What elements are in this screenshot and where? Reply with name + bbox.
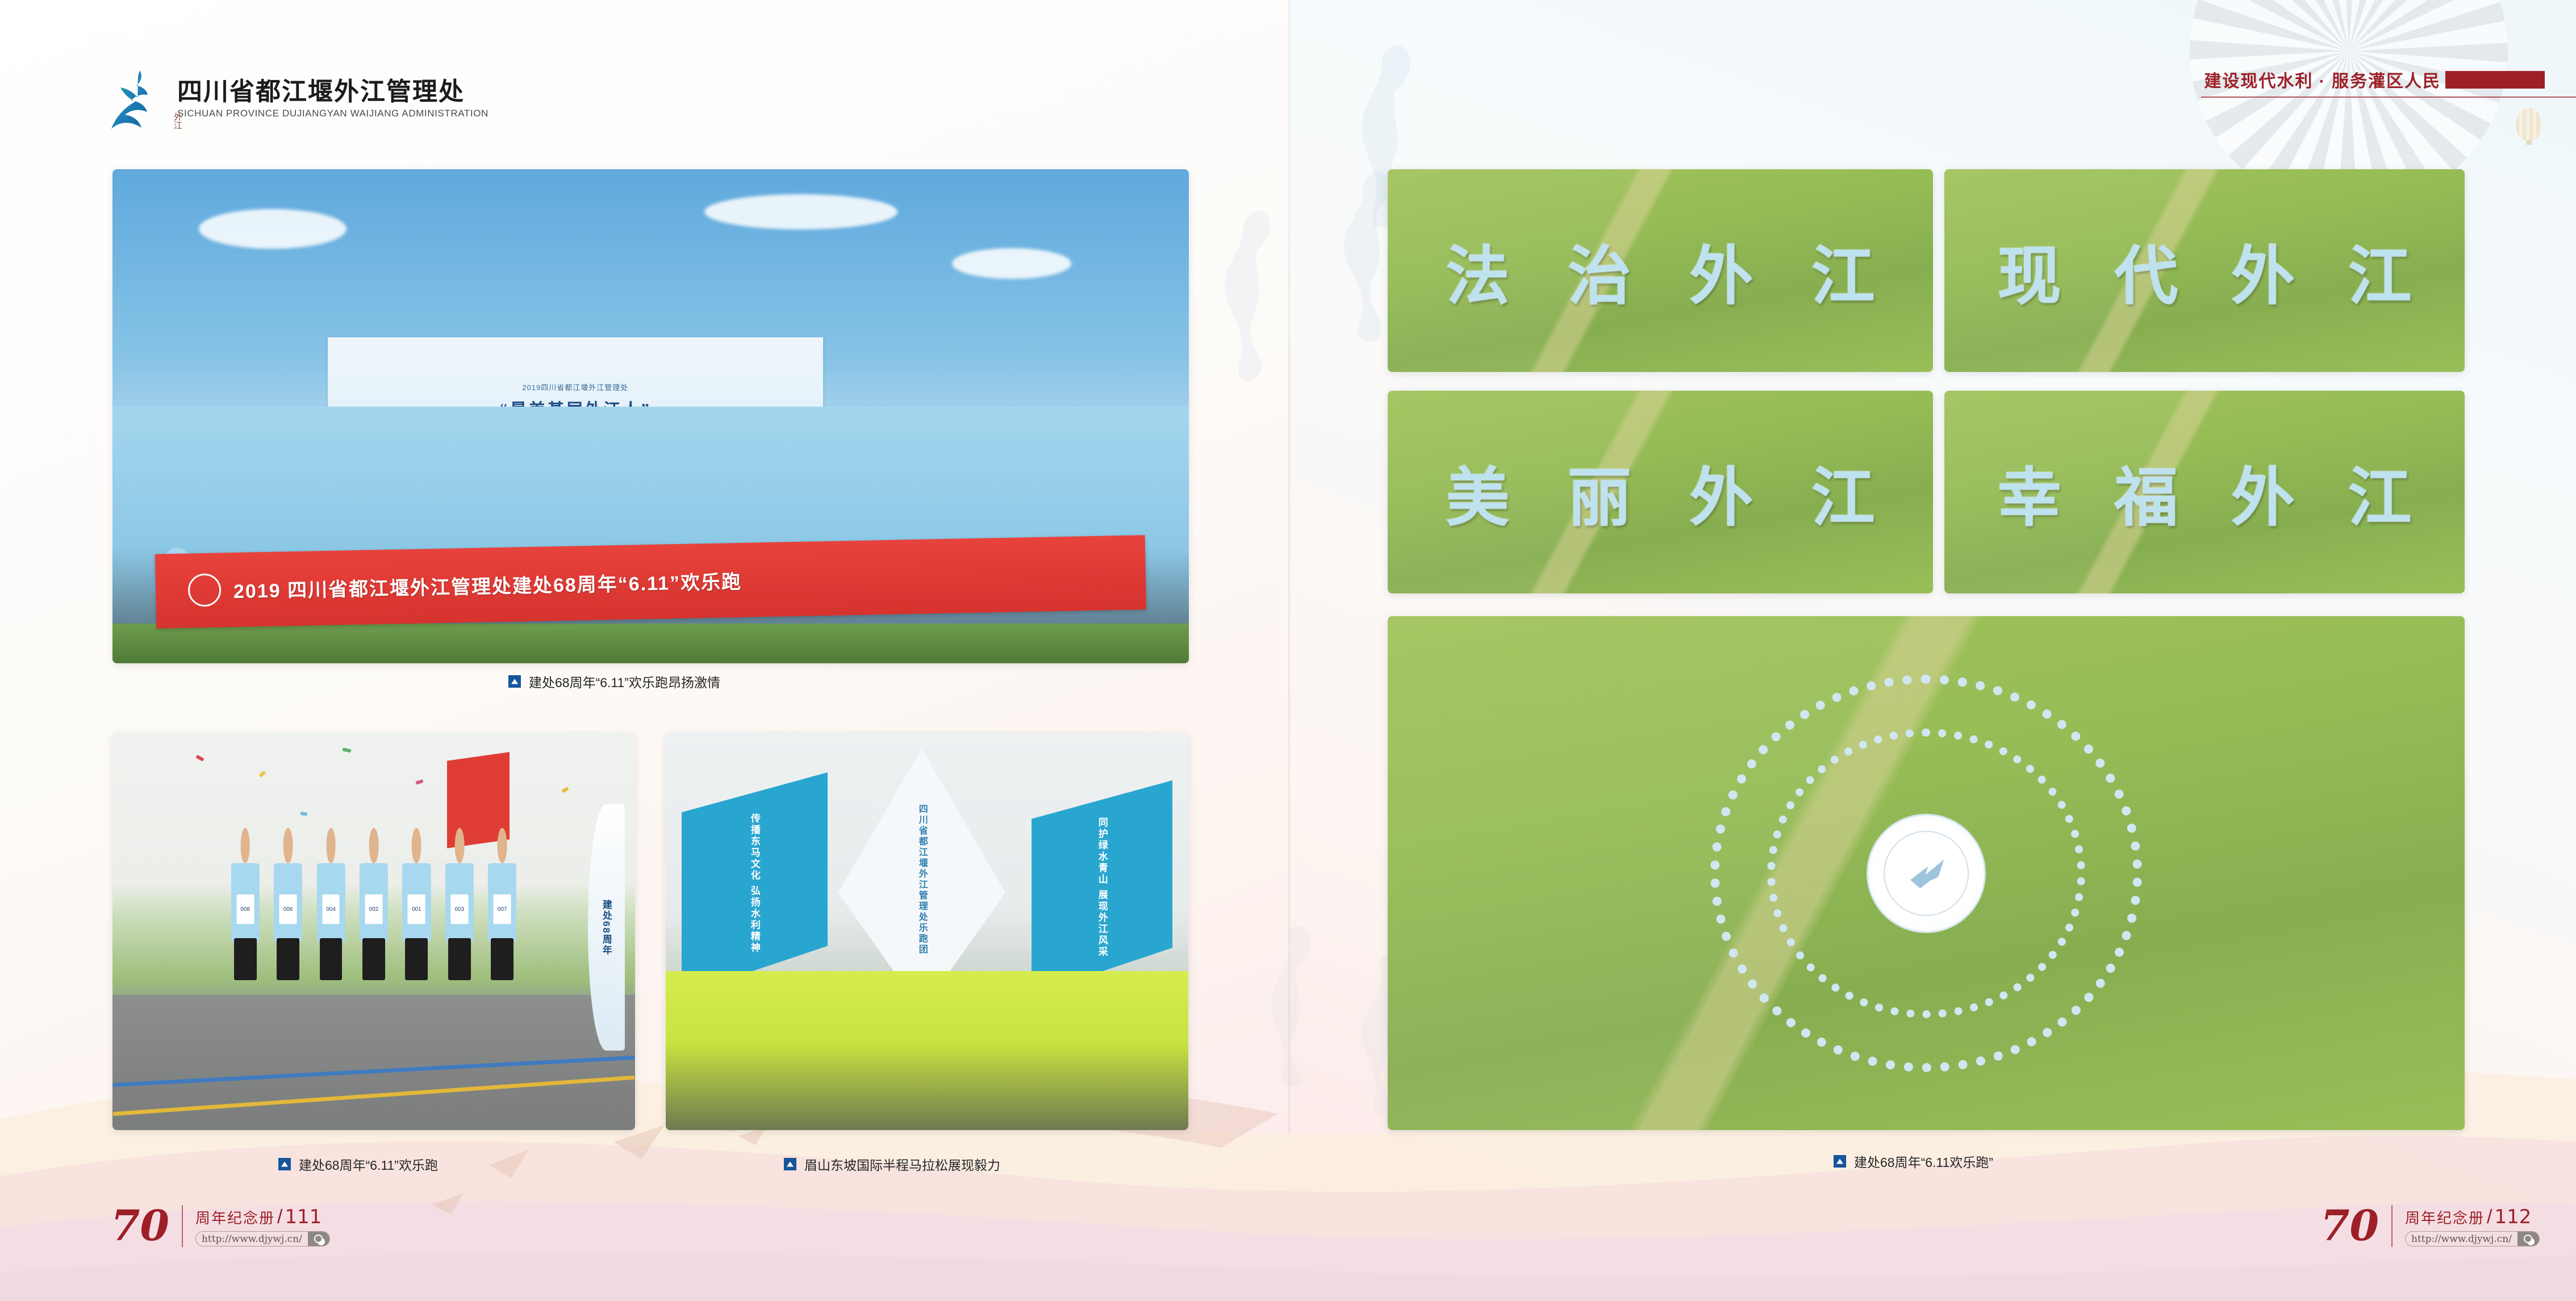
footer-url-bar[interactable]: http://www.djywj.cn/: [2405, 1231, 2540, 1246]
photo-circle-formation[interactable]: [1388, 616, 2465, 1130]
formation-char: 福: [2114, 446, 2178, 538]
caption-text: 建处68周年“6.11”欢乐跑昂扬激情: [529, 672, 720, 691]
triangle-marker-icon: [508, 675, 521, 688]
caption-happy-run: 建处68周年“6.11”欢乐跑: [278, 1154, 438, 1174]
runner-head: [369, 828, 379, 863]
formation-char: 外: [2231, 225, 2295, 317]
runner-figure: 008: [227, 828, 264, 1003]
slogan-text: 建设现代水利 · 服务灌区人民: [2204, 67, 2441, 92]
banner-text: 2019 四川省都江堰外江管理处建处68周年“6.11”欢乐跑: [233, 566, 742, 604]
runner-figure: 006: [270, 828, 306, 1003]
slogan-red-bar: [2445, 71, 2545, 89]
cloud-shape: [199, 209, 346, 249]
anniversary-70-logo: 70: [2320, 1207, 2379, 1245]
formation-char: 外: [1689, 225, 1753, 317]
triangle-marker-icon: [1834, 1155, 1846, 1168]
runner-shorts: [320, 938, 343, 980]
photo-formation-xingfu-waijiang[interactable]: 幸 福 外 江: [1944, 391, 2465, 593]
runner-head: [283, 828, 293, 863]
human-formation: 法 治 外 江: [1388, 169, 1933, 372]
slogan-banner: 建设现代水利 · 服务灌区人民: [2204, 67, 2545, 92]
footer-slash: /: [2487, 1206, 2492, 1228]
runner-bib: 006: [279, 894, 297, 924]
runner-shorts: [405, 938, 428, 980]
administration-emblem: [1867, 814, 1986, 933]
runner-head: [326, 828, 336, 863]
triangle-marker-icon: [278, 1158, 291, 1170]
anniversary-70-logo: 70: [111, 1207, 169, 1245]
formation-char: 治: [1568, 225, 1631, 317]
runner-bib: 004: [322, 894, 340, 924]
footer-page-number: 112: [2494, 1206, 2531, 1228]
slogan-underline: [2201, 97, 2576, 98]
runner-figure: 004: [312, 828, 349, 1003]
runner-figure: 001: [398, 828, 435, 1003]
site-header: 外江 四川省都江堰外江管理处 SICHUAN PROVINCE DUJIANGY…: [108, 68, 489, 131]
formation-char: 江: [1811, 225, 1875, 317]
grass-strip: [112, 624, 1189, 663]
footer-info-block: 周年纪念册 / 112 http://www.djywj.cn/: [2405, 1206, 2540, 1246]
flag-left-text: 传播东马文化 弘扬水利精神: [748, 813, 762, 954]
formation-char: 幸: [1998, 446, 2061, 538]
caption-circle-formation: 建处68周年“6.11欢乐跑”: [1834, 1152, 1993, 1171]
flag-right-text: 同护绿水青山 展现外江风采: [1095, 817, 1109, 958]
cloud-shape: [704, 194, 897, 229]
runner-bib: 001: [408, 894, 425, 924]
footer-divider: [182, 1205, 183, 1247]
formation-char: 美: [1446, 446, 1509, 538]
formation-char: 代: [2114, 225, 2178, 317]
photo-formation-fazhi-waijiang[interactable]: 法 治 外 江: [1388, 169, 1933, 372]
logo-side-text: 外江: [173, 112, 182, 129]
runner-shorts: [277, 938, 299, 980]
runner-bib: 002: [365, 894, 383, 924]
formation-char: 外: [1689, 446, 1753, 538]
runner-figure: 002: [356, 828, 392, 1003]
caption-group-celebration: 建处68周年“6.11”欢乐跑昂扬激情: [508, 672, 720, 691]
footer-title-row: 周年纪念册 / 111: [195, 1206, 330, 1228]
backdrop-line-1: 2019四川省都江堰外江管理处: [522, 382, 628, 392]
runner-head: [454, 828, 464, 863]
human-formation: 现 代 外 江: [1944, 169, 2465, 372]
runner-shorts: [362, 938, 385, 980]
footer-title-cn: 周年纪念册: [2405, 1207, 2485, 1228]
flag-center-text: 四川省都江堰外江管理处乐跑团: [915, 804, 929, 955]
search-icon[interactable]: [2517, 1232, 2539, 1246]
footer-title-row: 周年纪念册 / 112: [2405, 1206, 2540, 1228]
triangle-marker-icon: [784, 1158, 796, 1170]
footer-right-page: 70 周年纪念册 / 112 http://www.djywj.cn/: [2320, 1205, 2540, 1247]
organization-name-en: SICHUAN PROVINCE DUJIANGYAN WAIJIANG ADM…: [177, 108, 489, 119]
organization-logo-icon: 外江: [108, 68, 162, 131]
runner-shorts: [491, 938, 513, 980]
hot-air-balloon-icon: [2516, 108, 2542, 141]
runners-group: 008 006 004 002 001: [112, 828, 635, 1003]
footer-title-cn: 周年纪念册: [195, 1207, 275, 1228]
running-track: [112, 995, 635, 1130]
cloud-shape: [952, 248, 1071, 279]
caption-text: 建处68周年“6.11欢乐跑”: [1854, 1152, 1993, 1171]
runner-head: [412, 828, 421, 863]
human-formation: 美 丽 外 江: [1388, 391, 1933, 593]
search-icon[interactable]: [308, 1232, 329, 1246]
formation-char: 江: [2348, 225, 2411, 317]
footer-info-block: 周年纪念册 / 111 http://www.djywj.cn/: [195, 1206, 330, 1246]
photo-formation-xiandai-waijiang[interactable]: 现 代 外 江: [1944, 169, 2465, 372]
runner-figure: 007: [484, 828, 520, 1003]
human-formation: 幸 福 外 江: [1944, 391, 2465, 593]
emblem-inner-ring: [1884, 831, 1969, 916]
runner-bib: 007: [494, 894, 511, 924]
event-beach-flag: 建处68周年: [588, 804, 624, 1051]
runner-bib: 008: [236, 894, 254, 924]
runner-shorts: [448, 938, 471, 980]
marathon-crowd: [666, 971, 1188, 1130]
organization-title-block: 四川省都江堰外江管理处 SICHUAN PROVINCE DUJIANGYAN …: [177, 80, 489, 119]
footer-url-text: http://www.djywj.cn/: [196, 1233, 308, 1245]
runner-shorts: [234, 938, 257, 980]
photo-happy-run[interactable]: 008 006 004 002 001: [112, 733, 635, 1130]
caption-text: 建处68周年“6.11”欢乐跑: [299, 1154, 438, 1174]
footer-slash: /: [277, 1206, 282, 1228]
footer-url-text: http://www.djywj.cn/: [2406, 1233, 2517, 1245]
emblem-bird-icon: [1906, 856, 1946, 890]
runner-head: [498, 828, 507, 863]
formation-char: 外: [2231, 446, 2295, 538]
formation-char: 江: [2348, 446, 2411, 538]
footer-page-number: 111: [285, 1206, 322, 1228]
photo-group-celebration[interactable]: 2019四川省都江堰外江管理处 “最美基层外江人” 2019 四川省都江堰外江管…: [112, 169, 1189, 663]
photo-formation-meili-waijiang[interactable]: 美 丽 外 江: [1388, 391, 1933, 593]
caption-marathon: 眉山东坡国际半程马拉松展现毅力: [784, 1154, 1000, 1174]
runner-head: [240, 828, 250, 863]
caption-text: 眉山东坡国际半程马拉松展现毅力: [804, 1154, 1000, 1174]
footer-divider: [2391, 1205, 2393, 1247]
footer-left-page: 70 周年纪念册 / 111 http://www.djywj.cn/: [111, 1205, 330, 1247]
formation-char: 江: [1811, 446, 1875, 538]
photo-marathon[interactable]: 传播东马文化 弘扬水利精神 四川省都江堰外江管理处乐跑团 同护绿水青山 展现外江…: [666, 733, 1188, 1130]
beach-flag-text: 建处68周年: [599, 900, 613, 956]
runner-figure: 003: [441, 828, 478, 1003]
runner-bib: 003: [450, 894, 468, 924]
footer-url-bar[interactable]: http://www.djywj.cn/: [195, 1231, 330, 1246]
organization-name-cn: 四川省都江堰外江管理处: [177, 80, 489, 104]
formation-char: 丽: [1568, 446, 1631, 538]
banner-seal-icon: [187, 574, 221, 607]
formation-char: 法: [1446, 225, 1509, 317]
formation-char: 现: [1998, 225, 2061, 317]
